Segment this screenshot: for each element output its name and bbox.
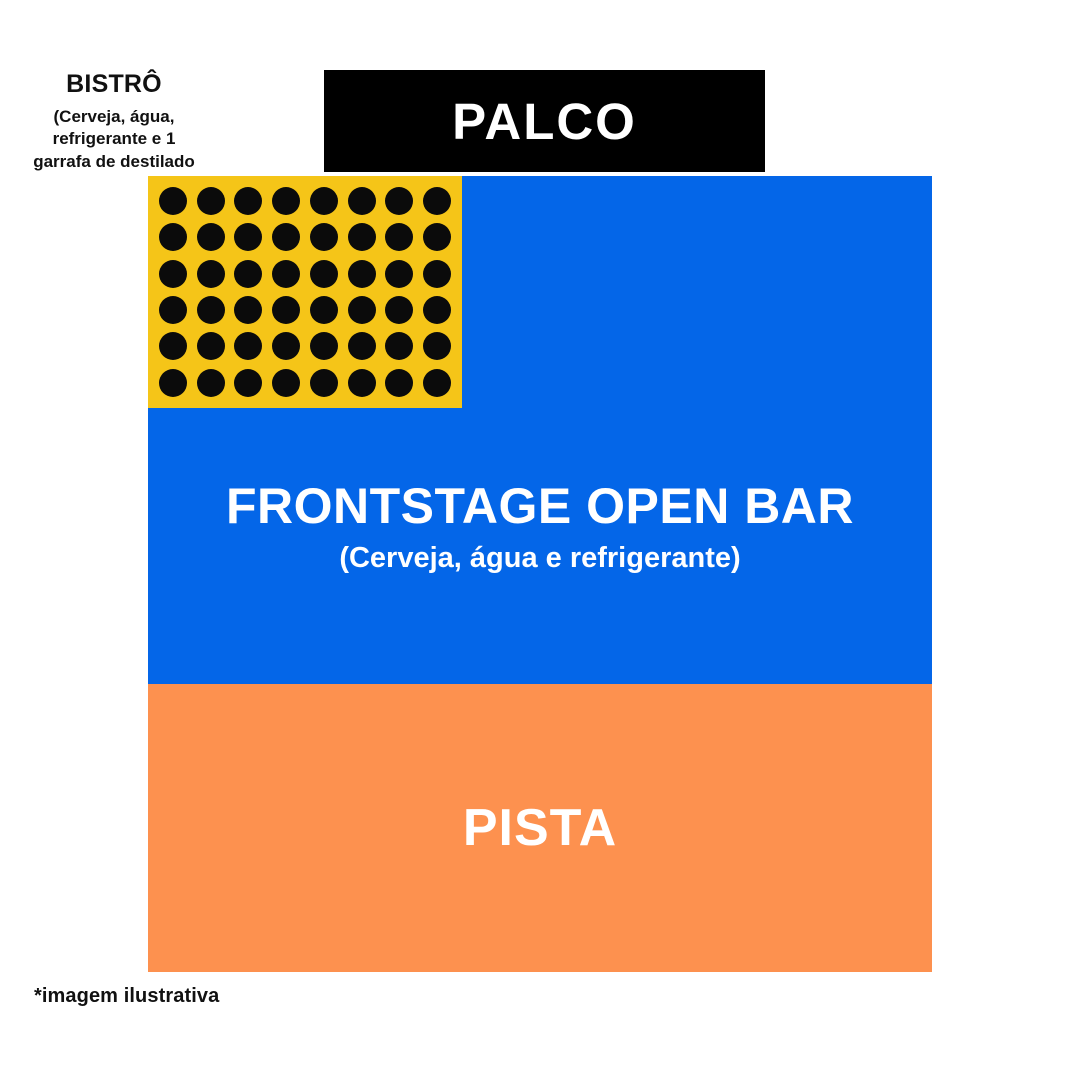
bistro-table-dot[interactable]	[310, 296, 338, 324]
bistro-table-dot[interactable]	[159, 223, 187, 251]
bistro-legend-description-line-3: garrafa de destilado	[14, 151, 214, 173]
bistro-table-dot[interactable]	[423, 187, 451, 215]
bistro-table-dot[interactable]	[385, 296, 413, 324]
bistro-table-dot[interactable]	[423, 296, 451, 324]
bistro-legend-description-line-2: refrigerante e 1	[14, 128, 214, 150]
bistro-table-dot[interactable]	[272, 296, 300, 324]
bistro-table-dot[interactable]	[310, 260, 338, 288]
bistro-table-dot[interactable]	[159, 332, 187, 360]
bistro-table-dot[interactable]	[234, 296, 262, 324]
bistro-table-dot[interactable]	[348, 332, 376, 360]
section-frontstage-textwrap: FRONTSTAGE OPEN BAR (Cerveja, água e ref…	[148, 480, 932, 575]
bistro-legend: BISTRÔ (Cerveja, água, refrigerante e 1 …	[14, 72, 214, 173]
section-pista[interactable]: PISTA	[148, 684, 932, 972]
bistro-table-dot[interactable]	[197, 296, 225, 324]
bistro-table-dot[interactable]	[197, 187, 225, 215]
illustrative-image-footnote: *imagem ilustrativa	[34, 985, 219, 1008]
bistro-table-dot[interactable]	[348, 187, 376, 215]
bistro-table-dot[interactable]	[348, 296, 376, 324]
bistro-table-dot[interactable]	[197, 260, 225, 288]
bistro-table-dot[interactable]	[234, 187, 262, 215]
bistro-table-dot[interactable]	[385, 187, 413, 215]
section-pista-label: PISTA	[148, 802, 932, 854]
section-frontstage-label: FRONTSTAGE OPEN BAR	[148, 480, 932, 533]
bistro-table-dot[interactable]	[197, 332, 225, 360]
bistro-table-dot[interactable]	[423, 369, 451, 397]
venue-map: BISTRÔ (Cerveja, água, refrigerante e 1 …	[0, 0, 1080, 1080]
bistro-table-dot[interactable]	[234, 332, 262, 360]
bistro-table-dot[interactable]	[272, 332, 300, 360]
bistro-table-dot[interactable]	[423, 260, 451, 288]
bistro-table-dot[interactable]	[159, 260, 187, 288]
bistro-table-dot[interactable]	[385, 332, 413, 360]
bistro-table-dot[interactable]	[234, 369, 262, 397]
bistro-legend-description: (Cerveja, água, refrigerante e 1 garrafa…	[14, 106, 214, 173]
bistro-table-dot[interactable]	[159, 369, 187, 397]
bistro-table-dot[interactable]	[234, 260, 262, 288]
bistro-table-dot[interactable]	[272, 260, 300, 288]
bistro-table-dot[interactable]	[272, 369, 300, 397]
section-frontstage-sublabel: (Cerveja, água e refrigerante)	[148, 541, 932, 576]
bistro-table-dot[interactable]	[310, 369, 338, 397]
bistro-table-dot[interactable]	[348, 369, 376, 397]
bistro-table-dot[interactable]	[310, 223, 338, 251]
bistro-table-dot[interactable]	[385, 223, 413, 251]
bistro-table-dot[interactable]	[197, 369, 225, 397]
bistro-table-dot[interactable]	[348, 260, 376, 288]
bistro-legend-description-line-1: (Cerveja, água,	[14, 106, 214, 128]
bistro-table-dot[interactable]	[272, 223, 300, 251]
bistro-table-dot[interactable]	[348, 223, 376, 251]
bistro-table-dot[interactable]	[423, 223, 451, 251]
bistro-table-dot[interactable]	[197, 223, 225, 251]
section-bistro-tables[interactable]	[148, 176, 462, 408]
bistro-table-dot[interactable]	[310, 332, 338, 360]
bistro-table-dot[interactable]	[159, 187, 187, 215]
bistro-table-dot[interactable]	[310, 187, 338, 215]
section-palco[interactable]: PALCO	[324, 70, 765, 172]
section-palco-label: PALCO	[452, 96, 637, 147]
bistro-table-dot[interactable]	[272, 187, 300, 215]
bistro-table-dot[interactable]	[385, 369, 413, 397]
bistro-table-dot[interactable]	[423, 332, 451, 360]
bistro-table-dot[interactable]	[234, 223, 262, 251]
bistro-legend-title: BISTRÔ	[14, 72, 214, 97]
bistro-table-dot[interactable]	[385, 260, 413, 288]
bistro-table-dot[interactable]	[159, 296, 187, 324]
